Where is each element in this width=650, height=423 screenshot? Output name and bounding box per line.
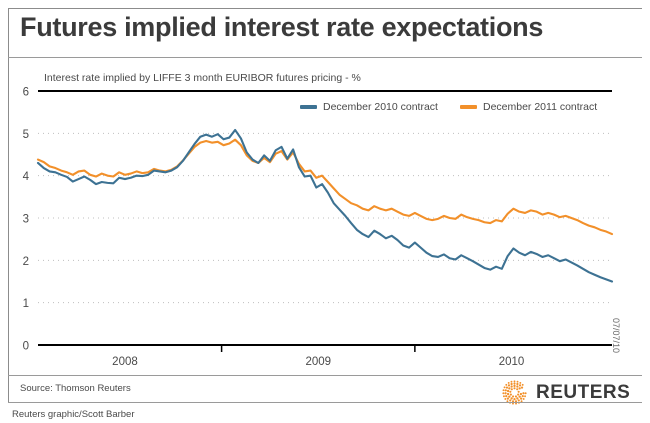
series-line-december-2010 bbox=[38, 130, 612, 282]
y-axis-tick-label: 4 bbox=[23, 171, 30, 183]
date-stamp: 07/07/10 bbox=[611, 318, 621, 353]
x-axis-tick-label: 2010 bbox=[499, 356, 525, 368]
legend-entry-december-2011[interactable]: December 2011 contract bbox=[460, 101, 597, 113]
chart-area: 0123456200820092010 December 2010 contra… bbox=[0, 60, 650, 375]
legend-label-december-2011: December 2011 contract bbox=[483, 101, 597, 113]
page-title: Futures implied interest rate expectatio… bbox=[20, 12, 543, 43]
x-axis-tick-label: 2008 bbox=[112, 356, 138, 368]
chart-page: Futures implied interest rate expectatio… bbox=[0, 0, 650, 423]
y-axis-tick-label: 3 bbox=[23, 214, 29, 226]
title-divider bbox=[8, 57, 642, 58]
y-axis-tick-label: 2 bbox=[23, 256, 29, 268]
chart-legend: December 2010 contract December 2011 con… bbox=[300, 101, 597, 113]
y-axis-tick-label: 5 bbox=[23, 129, 29, 141]
x-axis-tick-label: 2009 bbox=[305, 356, 331, 368]
source-label: Source: Thomson Reuters bbox=[20, 383, 131, 394]
legend-swatch-orange bbox=[460, 105, 477, 109]
frame-top-border bbox=[8, 8, 642, 9]
reuters-wordmark: REUTERS bbox=[536, 382, 630, 404]
legend-label-december-2010: December 2010 contract bbox=[323, 101, 438, 113]
footer-top-divider bbox=[8, 375, 642, 376]
legend-swatch-blue bbox=[300, 105, 317, 109]
y-axis-tick-label: 0 bbox=[23, 341, 29, 353]
footer-bottom-divider bbox=[8, 402, 642, 403]
y-axis-tick-label: 1 bbox=[23, 298, 29, 310]
legend-entry-december-2010[interactable]: December 2010 contract bbox=[300, 101, 438, 113]
y-axis-tick-label: 6 bbox=[23, 87, 29, 99]
credit-label: Reuters graphic/Scott Barber bbox=[12, 409, 135, 420]
